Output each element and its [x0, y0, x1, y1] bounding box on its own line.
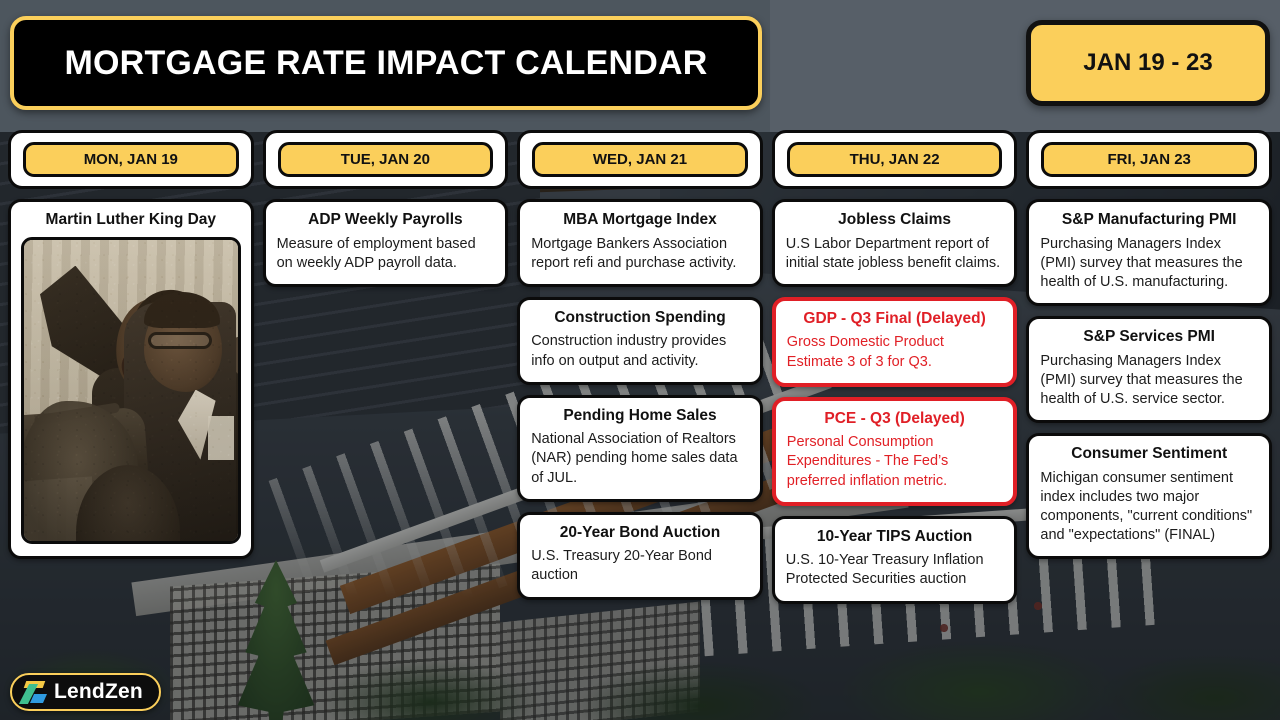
event-title: PCE - Q3 (Delayed) — [787, 410, 1003, 429]
day-column-3: THU, JAN 22Jobless ClaimsU.S Labor Depar… — [772, 130, 1018, 712]
event-title: S&P Manufacturing PMI — [1040, 211, 1258, 230]
event-description: Purchasing Managers Index (PMI) survey t… — [1040, 352, 1258, 409]
day-label-2[interactable]: WED, JAN 21 — [532, 142, 748, 177]
day-label-0[interactable]: MON, JAN 19 — [23, 142, 239, 177]
event-title: Martin Luther King Day — [21, 211, 241, 230]
date-range-label: JAN 19 - 23 — [1083, 49, 1212, 77]
event-title: 10-Year TIPS Auction — [786, 528, 1004, 547]
day-label-1[interactable]: TUE, JAN 20 — [278, 142, 494, 177]
event-title: S&P Services PMI — [1040, 328, 1258, 347]
page-title: MORTGAGE RATE IMPACT CALENDAR — [65, 44, 708, 83]
page-title-banner: MORTGAGE RATE IMPACT CALENDAR — [10, 16, 762, 110]
event-card-alert[interactable]: GDP - Q3 Final (Delayed)Gross Domestic P… — [772, 297, 1018, 387]
lendzen-logo[interactable]: LendZen — [10, 673, 161, 711]
week-grid: MON, JAN 19Martin Luther King DayTUE, JA… — [8, 130, 1272, 712]
event-card[interactable]: 10-Year TIPS AuctionU.S. 10-Year Treasur… — [772, 516, 1018, 604]
day-column-4: FRI, JAN 23S&P Manufacturing PMIPurchasi… — [1026, 130, 1272, 712]
event-card[interactable]: S&P Services PMIPurchasing Managers Inde… — [1026, 316, 1272, 423]
event-title: ADP Weekly Payrolls — [277, 211, 495, 230]
event-description: Purchasing Managers Index (PMI) survey t… — [1040, 235, 1258, 292]
calendar-infographic: MORTGAGE RATE IMPACT CALENDAR JAN 19 - 2… — [0, 0, 1280, 720]
event-title: Pending Home Sales — [531, 407, 749, 426]
event-title: GDP - Q3 Final (Delayed) — [787, 310, 1003, 329]
day-column-2: WED, JAN 21MBA Mortgage IndexMortgage Ba… — [517, 130, 763, 712]
event-description: U.S Labor Department report of initial s… — [786, 235, 1004, 273]
event-title: MBA Mortgage Index — [531, 211, 749, 230]
event-card[interactable]: Construction SpendingConstruction indust… — [517, 297, 763, 385]
holiday-photo-frame — [21, 237, 241, 544]
day-header-1: TUE, JAN 20 — [263, 130, 509, 189]
event-description: Measure of employment based on weekly AD… — [277, 235, 495, 273]
event-description: Gross Domestic Product Estimate 3 of 3 f… — [787, 333, 1003, 371]
day-label-4[interactable]: FRI, JAN 23 — [1041, 142, 1257, 177]
event-description: Personal Consumption Expenditures - The … — [787, 433, 1003, 490]
event-title: Construction Spending — [531, 309, 749, 328]
event-card[interactable]: Pending Home SalesNational Association o… — [517, 395, 763, 502]
day-label-3[interactable]: THU, JAN 22 — [787, 142, 1003, 177]
day-header-4: FRI, JAN 23 — [1026, 130, 1272, 189]
date-range-badge: JAN 19 - 23 — [1026, 20, 1270, 106]
lendzen-z-icon — [22, 680, 46, 704]
event-description: Mortgage Bankers Association report refi… — [531, 235, 749, 273]
day-header-0: MON, JAN 19 — [8, 130, 254, 189]
event-card[interactable]: Martin Luther King Day — [8, 199, 254, 559]
event-card[interactable]: MBA Mortgage IndexMortgage Bankers Assoc… — [517, 199, 763, 287]
event-description: National Association of Realtors (NAR) p… — [531, 430, 749, 487]
event-description: Construction industry provides info on o… — [531, 332, 749, 370]
event-description: U.S. Treasury 20-Year Bond auction — [531, 547, 749, 585]
event-card[interactable]: ADP Weekly PayrollsMeasure of employment… — [263, 199, 509, 287]
event-title: Consumer Sentiment — [1040, 445, 1258, 464]
event-card[interactable]: 20-Year Bond AuctionU.S. Treasury 20-Yea… — [517, 512, 763, 600]
event-card[interactable]: S&P Manufacturing PMIPurchasing Managers… — [1026, 199, 1272, 306]
event-title: 20-Year Bond Auction — [531, 524, 749, 543]
mlk-photo — [24, 240, 238, 541]
event-card[interactable]: Jobless ClaimsU.S Labor Department repor… — [772, 199, 1018, 287]
event-card[interactable]: Consumer SentimentMichigan consumer sent… — [1026, 433, 1272, 559]
day-column-0: MON, JAN 19Martin Luther King Day — [8, 130, 254, 712]
event-description: U.S. 10-Year Treasury Inflation Protecte… — [786, 551, 1004, 589]
day-header-3: THU, JAN 22 — [772, 130, 1018, 189]
event-title: Jobless Claims — [786, 211, 1004, 230]
lendzen-wordmark: LendZen — [54, 680, 143, 704]
event-description: Michigan consumer sentiment index includ… — [1040, 469, 1258, 546]
event-card-alert[interactable]: PCE - Q3 (Delayed)Personal Consumption E… — [772, 397, 1018, 506]
day-header-2: WED, JAN 21 — [517, 130, 763, 189]
day-column-1: TUE, JAN 20ADP Weekly PayrollsMeasure of… — [263, 130, 509, 712]
